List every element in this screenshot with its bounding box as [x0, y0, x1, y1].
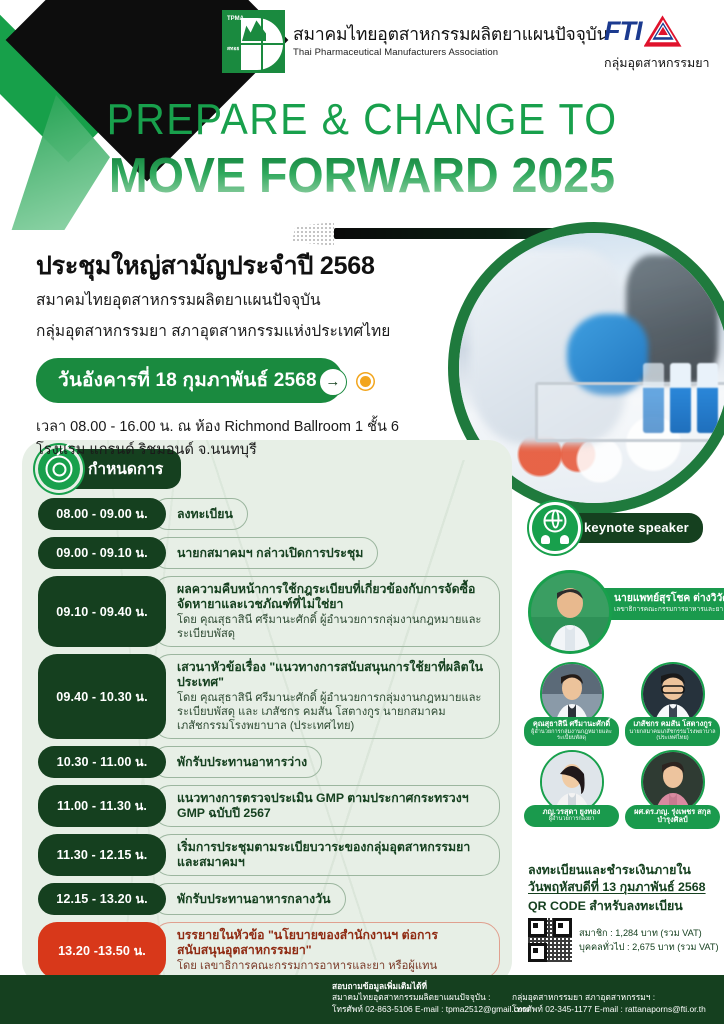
- agenda-row-desc: บรรยายในหัวข้อ "นโยบายของสำนักงานฯ ต่อกา…: [152, 922, 500, 979]
- speaker-nameplate: คุณสุธาสินี ศรีมานะศักดิ์ผู้อำนวยการกลุ่…: [524, 717, 619, 746]
- agenda-row-title: ลงทะเบียน: [177, 507, 233, 522]
- agenda-row-desc: แนวทางการตรวจประเมิน GMP ตามประกาศกระทรว…: [152, 785, 500, 827]
- agenda-row: 12.15 - 13.20 น.พักรับประทานอาหารกลางวัน: [38, 883, 500, 915]
- event-info: ประชุมใหญ่สามัญประจำปี 2568 สมาคมไทยอุตส…: [36, 250, 466, 462]
- keynote-speaker-card: นายแพทย์สุรโชค ต่างวิวัฒน์ เลขาธิการคณะก…: [528, 570, 718, 648]
- event-heading: ประชุมใหญ่สามัญประจำปี 2568: [36, 250, 466, 282]
- agenda-row: 09.10 - 09.40 น.ผลความคืบหน้าการใช้กฎระเ…: [38, 576, 500, 647]
- agenda-row: 08.00 - 09.00 น.ลงทะเบียน: [38, 498, 500, 530]
- registration-qr-label: QR CODE สำหรับลงทะเบียน: [528, 897, 724, 915]
- venue-line-2: โรงแรม แกรนด์ ริชมอนด์ จ.นนทบุรี: [36, 439, 466, 462]
- agenda-row-title: เสวนาหัวข้อเรื่อง "แนวทางการสนับสนุนการใ…: [177, 660, 485, 690]
- speaker-card: ผศ.ดร.ภญ. รุ่งเพชร สกุลบำรุงศิลป์: [625, 750, 720, 829]
- keynote-label: keynote speaker: [556, 513, 703, 543]
- speaker-role: นายกสมาคมเภสัชกรรมโรงพยาบาล (ประเทศไทย): [629, 729, 716, 742]
- footer-left-org: สมาคมไทยอุตสาหกรรมผลิตยาแผนปัจจุบัน :: [332, 992, 530, 1004]
- venue-line-1: เวลา 08.00 - 16.00 น. ณ ห้อง Richmond Ba…: [36, 416, 466, 439]
- header: TPMA สทอย สมาคมไทยอุตสาหกรรมผลิตยาแผนปัจ…: [0, 0, 724, 86]
- speaker-nameplate: ภญ.วรสุดา ยูงทองผู้อำนวยการกองยา: [524, 805, 619, 827]
- agenda-row-title: พักรับประทานอาหารกลางวัน: [177, 892, 331, 907]
- qr-code-icon[interactable]: [528, 918, 572, 962]
- footer-left-details: โทรศัพท์ 02-863-5106 E-mail : tpma2512@g…: [332, 1004, 530, 1016]
- agenda-row-desc: พักรับประทานอาหารว่าง: [152, 746, 322, 778]
- footer-contact-title: สอบถามข้อมูลเพิ่มเติมได้ที่: [332, 981, 530, 992]
- event-date-pill: วันอังคารที่ 18 กุมภาพันธ์ 2568: [36, 358, 343, 403]
- agenda-row-title: นายกสมาคมฯ กล่าวเปิดการประชุม: [177, 546, 363, 561]
- fti-logo-block: FTI กลุ่มอุตสาหกรรมยา: [604, 14, 710, 73]
- fti-subtitle: กลุ่มอุตสาหกรรมยา: [604, 53, 710, 73]
- keynote-speaker-name: นายแพทย์สุรโชค ต่างวิวัฒน์: [614, 593, 724, 605]
- keynote-speaker-role: เลขาธิการคณะกรรมการอาหารและยา: [614, 606, 724, 614]
- registration-deadline: วันพฤหัสบดีที่ 13 กุมภาพันธ์ 2568: [528, 879, 724, 896]
- agenda-row-desc: ลงทะเบียน: [152, 498, 248, 530]
- speaker-role: ผู้อำนวยการกลุ่มงานกฎหมายและระเบียบพัสดุ: [528, 729, 615, 742]
- agenda-row-speaker: โดย เลขาธิการคณะกรรมการอาหารและยา หรือผู…: [177, 959, 485, 973]
- agenda-row-desc: นายกสมาคมฯ กล่าวเปิดการประชุม: [152, 537, 378, 569]
- agenda-rows: 08.00 - 09.00 น.ลงทะเบียน09.00 - 09.10 น…: [38, 498, 500, 985]
- agenda-row-time: 09.40 - 10.30 น.: [38, 654, 166, 739]
- event-date-row: วันอังคารที่ 18 กุมภาพันธ์ 2568 →: [36, 344, 466, 403]
- event-org-line-2: กลุ่มอุตสาหกรรมยา สภาอุตสาหกรรมแห่งประเท…: [36, 320, 466, 344]
- speaker-grid: คุณสุธาสินี ศรีมานะศักดิ์ผู้อำนวยการกลุ่…: [524, 662, 720, 829]
- tpma-name-en: Thai Pharmaceutical Manufacturers Associ…: [293, 48, 608, 58]
- footer-right-details: โทรศัพท์ 02-345-1177 E-mail : rattanapor…: [512, 1004, 706, 1016]
- agenda-row-speaker: โดย คุณสุธาสินี ศรีมานะศักดิ์ ผู้อำนวยกา…: [177, 613, 485, 641]
- tpma-name-th: สมาคมไทยอุตสาหกรรมผลิตยาแผนปัจจุบัน: [293, 25, 608, 43]
- speaker-card: เภสัชกร คมสัน โสตางกูรนายกสมาคมเภสัชกรรม…: [625, 662, 720, 746]
- agenda-row-title: ผลความคืบหน้าการใช้กฎระเบียบที่เกี่ยวข้อ…: [177, 582, 485, 612]
- fti-triangle-icon: [644, 14, 682, 48]
- tpma-logo-block: TPMA สทอย สมาคมไทยอุตสาหกรรมผลิตยาแผนปัจ…: [222, 10, 608, 73]
- tpma-logo-letters-th: สทอย: [227, 47, 239, 52]
- registration-prices: สมาชิก : 1,284 บาท (รวม VAT) บุคคลทั่วไป…: [579, 926, 719, 954]
- footer-right-org: กลุ่มอุตสาหกรรมยา สภาอุตสาหกรรมฯ :: [512, 992, 706, 1004]
- agenda-row: 13.20 -13.50 น.บรรยายในหัวข้อ "นโยบายของ…: [38, 922, 500, 979]
- agenda-row-time: 09.10 - 09.40 น.: [38, 576, 166, 647]
- agenda-row: 09.40 - 10.30 น.เสวนาหัวข้อเรื่อง "แนวทา…: [38, 654, 500, 739]
- agenda-row: 11.00 - 11.30 น.แนวทางการตรวจประเมิน GMP…: [38, 785, 500, 827]
- agenda-row-title: เริ่มการประชุมตามระเบียบวาระของกลุ่มอุตส…: [177, 840, 485, 870]
- agenda-row-time: 11.30 - 12.15 น.: [38, 834, 166, 876]
- agenda-row-time: 08.00 - 09.00 น.: [38, 498, 166, 530]
- speaker-card: คุณสุธาสินี ศรีมานะศักดิ์ผู้อำนวยการกลุ่…: [524, 662, 619, 746]
- speaker-card: ภญ.วรสุดา ยูงทองผู้อำนวยการกองยา: [524, 750, 619, 829]
- speaker-role: ผู้อำนวยการกองยา: [528, 816, 615, 823]
- fti-wordmark: FTI: [604, 16, 642, 47]
- agenda-row-desc: เริ่มการประชุมตามระเบียบวาระของกลุ่มอุตส…: [152, 834, 500, 876]
- agenda-row-time: 09.00 - 09.10 น.: [38, 537, 166, 569]
- footer-left-contact: สอบถามข้อมูลเพิ่มเติมได้ที่ สมาคมไทยอุตส…: [332, 981, 530, 1015]
- agenda-row-title: พักรับประทานอาหารว่าง: [177, 755, 307, 770]
- footer: สอบถามข้อมูลเพิ่มเติมได้ที่ สมาคมไทยอุตส…: [0, 975, 724, 1024]
- agenda-row-desc: พักรับประทานอาหารกลางวัน: [152, 883, 346, 915]
- agenda-row-time: 12.15 - 13.20 น.: [38, 883, 166, 915]
- agenda-row-time: 11.00 - 11.30 น.: [38, 785, 166, 827]
- agenda-row-desc: ผลความคืบหน้าการใช้กฎระเบียบที่เกี่ยวข้อ…: [152, 576, 500, 647]
- price-general: บุคคลทั่วไป : 2,675 บาท (รวม VAT): [579, 940, 719, 954]
- speaker-name: เภสัชกร คมสัน โสตางกูร: [629, 720, 716, 729]
- speaker-name: คุณสุธาสินี ศรีมานะศักดิ์: [528, 720, 615, 729]
- speaker-name: ผศ.ดร.ภญ. รุ่งเพชร สกุลบำรุงศิลป์: [629, 808, 716, 825]
- agenda-row: 10.30 - 11.00 น.พักรับประทานอาหารว่าง: [38, 746, 500, 778]
- poster-title: PREPARE & CHANGE TO MOVE FORWARD 2025: [0, 94, 724, 204]
- agenda-row-desc: เสวนาหัวข้อเรื่อง "แนวทางการสนับสนุนการใ…: [152, 654, 500, 739]
- orange-dot-decoration: [360, 376, 371, 387]
- price-member: สมาชิก : 1,284 บาท (รวม VAT): [579, 926, 719, 940]
- footer-right-contact: กลุ่มอุตสาหกรรมยา สภาอุตสาหกรรมฯ : โทรศั…: [512, 992, 706, 1015]
- poster-root: TPMA สทอย สมาคมไทยอุตสาหกรรมผลิตยาแผนปัจ…: [0, 0, 724, 1024]
- title-line-2: MOVE FORWARD 2025: [18, 148, 706, 204]
- speaker-nameplate: เภสัชกร คมสัน โสตางกูรนายกสมาคมเภสัชกรรม…: [625, 717, 720, 746]
- dot-pattern-decoration: [292, 222, 334, 246]
- speaker-nameplate: ผศ.ดร.ภญ. รุ่งเพชร สกุลบำรุงศิลป์: [625, 805, 720, 829]
- registration-line-1: ลงทะเบียนและชำระเงินภายใน: [528, 862, 724, 879]
- registration-qr-row: สมาชิก : 1,284 บาท (รวม VAT) บุคคลทั่วไป…: [528, 918, 724, 962]
- agenda-panel: กำหนดการ 08.00 - 09.00 น.ลงทะเบียน09.00 …: [22, 440, 512, 985]
- agenda-row-speaker: โดย คุณสุธาสินี ศรีมานะศักดิ์ ผู้อำนวยกา…: [177, 691, 485, 733]
- agenda-row-title: บรรยายในหัวข้อ "นโยบายของสำนักงานฯ ต่อกา…: [177, 928, 485, 958]
- arrow-right-icon: →: [319, 368, 347, 396]
- agenda-row-title: แนวทางการตรวจประเมิน GMP ตามประกาศกระทรว…: [177, 791, 485, 821]
- keynote-header: keynote speaker: [532, 505, 703, 551]
- registration-block: ลงทะเบียนและชำระเงินภายใน วันพฤหัสบดีที่…: [528, 862, 724, 962]
- tpma-logo-icon: TPMA สทอย: [222, 10, 285, 73]
- agenda-row-time: 10.30 - 11.00 น.: [38, 746, 166, 778]
- event-org-line-1: สมาคมไทยอุตสาหกรรมผลิตยาแผนปัจจุบัน: [36, 289, 466, 313]
- globe-people-icon: [532, 505, 578, 551]
- title-line-1: PREPARE & CHANGE TO: [25, 94, 698, 146]
- keynote-speaker-avatar: [528, 570, 612, 654]
- agenda-row: 09.00 - 09.10 น.นายกสมาคมฯ กล่าวเปิดการป…: [38, 537, 500, 569]
- agenda-row-time: 13.20 -13.50 น.: [38, 922, 166, 979]
- agenda-row: 11.30 - 12.15 น.เริ่มการประชุมตามระเบียบ…: [38, 834, 500, 876]
